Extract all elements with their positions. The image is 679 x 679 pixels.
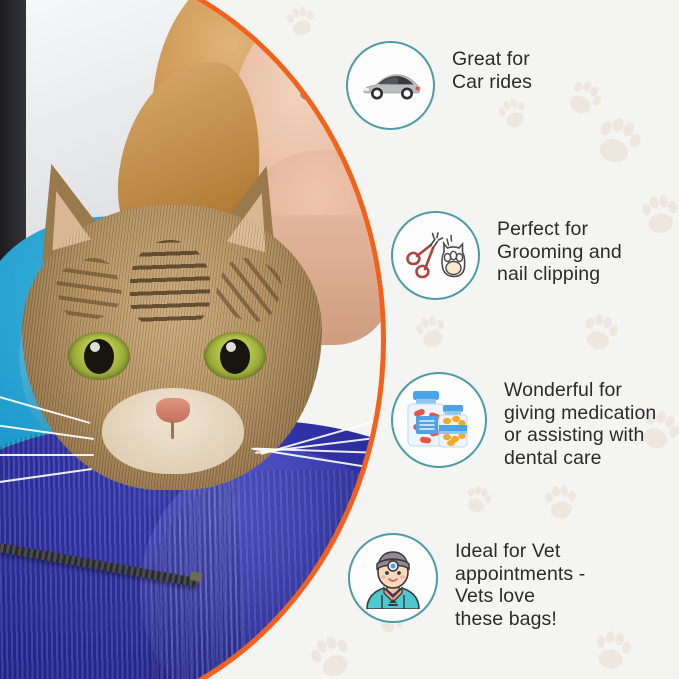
- feature-label: Perfect for Grooming and nail clipping: [497, 218, 622, 286]
- feature-label: Wonderful for giving medication or assis…: [504, 379, 656, 469]
- feature-item-medication[interactable]: Wonderful for giving medication or assis…: [391, 372, 656, 469]
- product-feature-panel: Great for Car rides: [0, 0, 679, 679]
- feature-label: Great for Car rides: [452, 48, 532, 93]
- car-icon: [360, 69, 422, 103]
- feature-icon-circle: [346, 41, 435, 130]
- product-photo: [0, 0, 400, 679]
- veterinarian-icon: [362, 547, 424, 609]
- cat-subject: [10, 170, 340, 500]
- feature-item-grooming[interactable]: Perfect for Grooming and nail clipping: [391, 211, 622, 300]
- grooming-scissors-paw-icon: [404, 229, 468, 283]
- medicine-bottles-icon: [407, 389, 471, 451]
- photo-content: [0, 0, 386, 679]
- feature-item-car-rides[interactable]: Great for Car rides: [346, 41, 532, 130]
- feature-icon-circle: [391, 372, 487, 468]
- feature-label: Ideal for Vet appointments - Vets love t…: [455, 540, 585, 630]
- photo-elliptical-frame: [0, 0, 386, 679]
- feature-icon-circle: [391, 211, 480, 300]
- feature-item-vet[interactable]: Ideal for Vet appointments - Vets love t…: [348, 533, 585, 630]
- feature-icon-circle: [348, 533, 438, 623]
